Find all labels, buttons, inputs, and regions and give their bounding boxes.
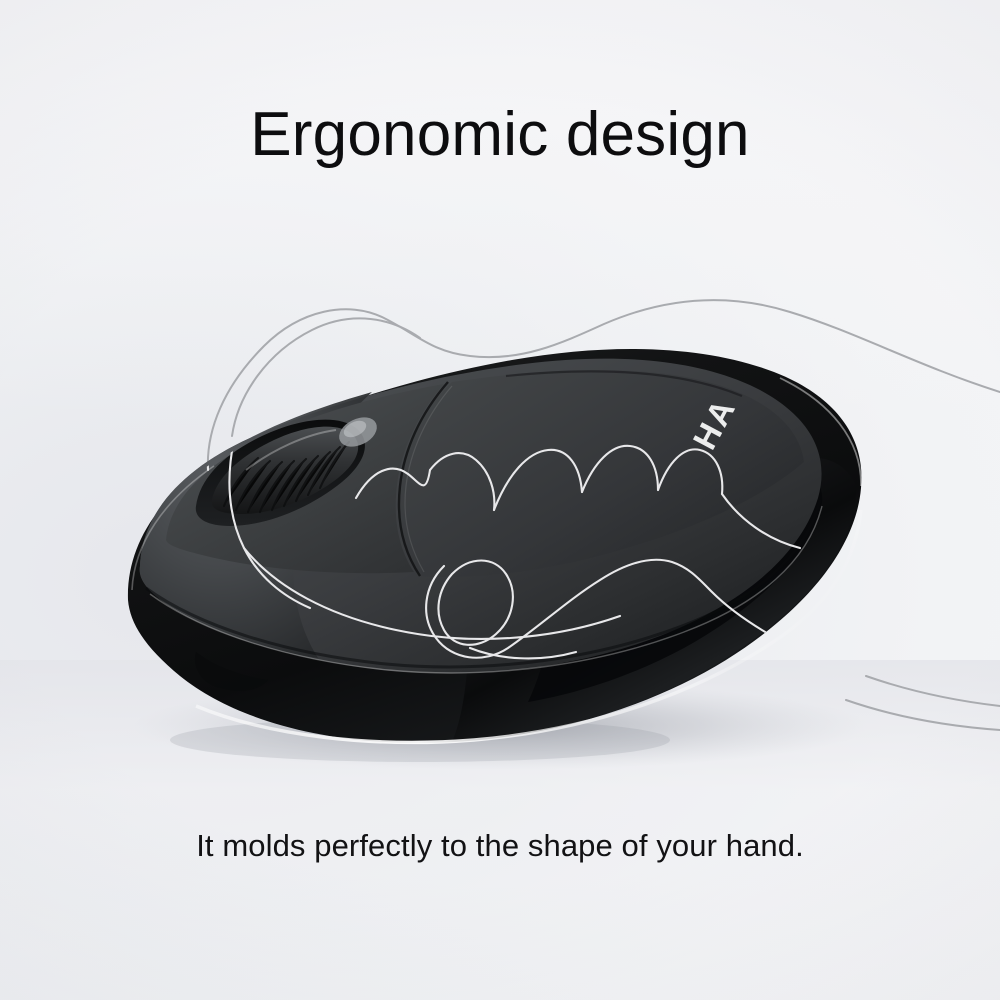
wireless-mouse: HA [120, 300, 862, 743]
page-title: Ergonomic design [0, 104, 1000, 166]
product-feature-image: HA [0, 0, 1000, 1000]
caption-text: It molds perfectly to the shape of your … [0, 830, 1000, 861]
